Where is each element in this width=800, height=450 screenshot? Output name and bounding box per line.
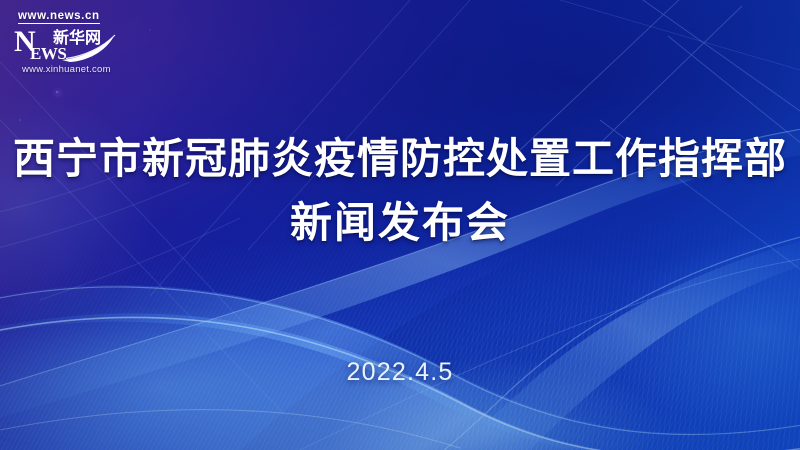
title-line-2: 新闻发布会 — [0, 198, 800, 248]
banner-title: 西宁市新冠肺炎疫情防控处置工作指挥部 新闻发布会 — [0, 134, 800, 248]
title-line-1: 西宁市新冠肺炎疫情防控处置工作指挥部 — [0, 134, 800, 184]
svg-text:新华网: 新华网 — [53, 28, 101, 47]
banner-date: 2022.4.5 — [0, 358, 800, 387]
logo-url-bottom: www.xinhuanet.com — [22, 64, 111, 75]
logo-url-top: www.news.cn — [18, 10, 100, 22]
xinhua-logo-mark-icon: N EWS 新华网 — [14, 24, 142, 62]
xinhua-logo[interactable]: www.news.cn N EWS 新华网 www.xinhuanet.com — [14, 10, 144, 78]
news-conference-banner: www.news.cn N EWS 新华网 www.xinhuanet.com … — [0, 0, 800, 450]
